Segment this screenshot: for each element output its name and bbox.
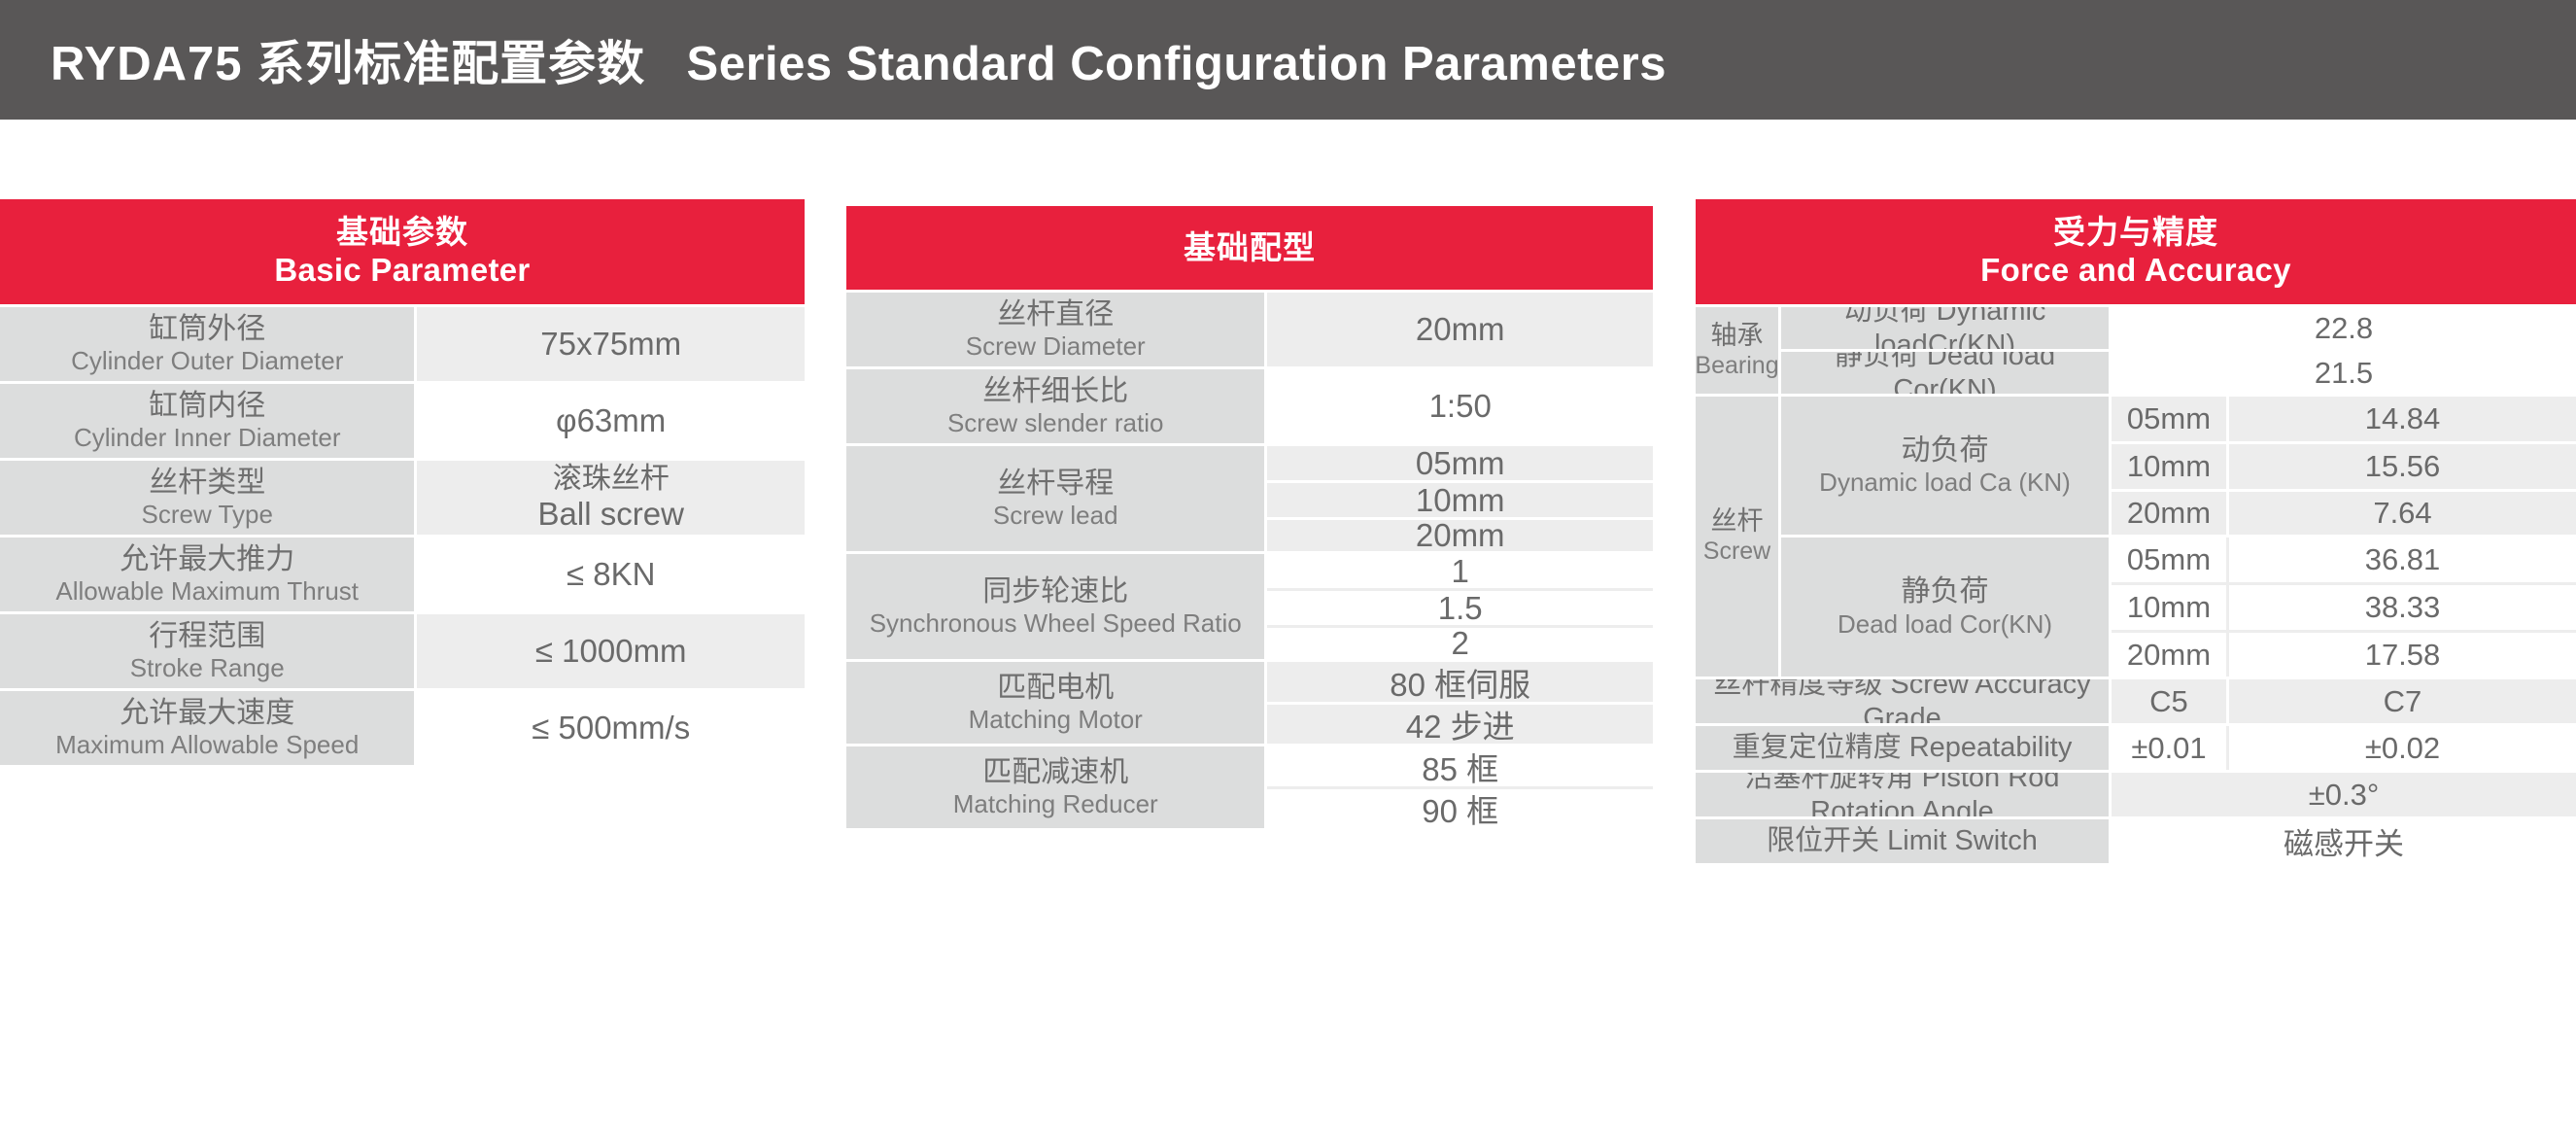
row-label-text: 丝杆精度等级 Screw Accuracy Grade: [1696, 679, 2109, 723]
table-row: 重复定位精度 Repeatability ±0.01 ±0.02: [1696, 726, 2576, 770]
row-value: 1.5: [1267, 591, 1653, 625]
row-value: φ63mm: [417, 384, 805, 458]
row-label-cn: 丝杆导程: [997, 467, 1114, 501]
lead-value: 05mm: [2112, 397, 2226, 441]
row-value: 80 框伺服: [1267, 662, 1653, 702]
block-label-en: Dynamic load Ca (KN): [1819, 468, 2071, 498]
row-label-cn: 匹配减速机: [982, 755, 1128, 789]
table-row: 10mm 38.33: [2112, 585, 2576, 630]
lead-value: 20mm: [2112, 492, 2226, 535]
row-label-en: Matching Motor: [969, 705, 1143, 735]
load-value: 17.58: [2229, 633, 2576, 677]
screw-group: 丝杆 Screw 动负荷 Dynamic load Ca (KN) 05mm: [1696, 397, 2576, 677]
block-values: 05mm 36.81 10mm 38.33 20mm: [2112, 538, 2576, 677]
row-label-en: Synchronous Wheel Speed Ratio: [870, 608, 1242, 639]
row-label-cn: 匹配电机: [997, 671, 1114, 705]
group-label-screw: 丝杆 Screw: [1696, 397, 1778, 677]
page-title-cn: RYDA75 系列标准配置参数: [51, 38, 645, 90]
row-label: 丝杆直径 Screw Diameter: [846, 293, 1264, 366]
table-row: 静负荷 Dead load Cor(KN) 21.5: [1781, 352, 2576, 394]
row-label: 限位开关 Limit Switch: [1696, 819, 2109, 863]
row-value: 75x75mm: [417, 307, 805, 381]
row-value: 21.5: [2112, 352, 2576, 394]
row-label-cn: 缸筒外径: [149, 312, 265, 346]
block-label: 静负荷 Dead load Cor(KN): [1781, 538, 2109, 677]
row-label: 同步轮速比 Synchronous Wheel Speed Ratio: [846, 554, 1264, 659]
row-value: 42 步进: [1267, 705, 1653, 744]
row-value-cn: 滚珠丝杆: [553, 462, 670, 496]
row-values: 1 1.5 2: [1267, 554, 1653, 659]
row-label-en: Maximum Allowable Speed: [55, 730, 359, 760]
table-row: 活塞杆旋转角 Piston Rod Rotation Angle ±0.3°: [1696, 773, 2576, 816]
row-value: 20mm: [1267, 520, 1653, 551]
table-row: 20mm 7.64: [2112, 492, 2576, 535]
row-label-en: Screw slender ratio: [947, 408, 1164, 438]
row-value-text: 75x75mm: [540, 326, 681, 364]
table-row: 允许最大速度 Maximum Allowable Speed ≤ 500mm/s: [0, 691, 805, 765]
header-en: Force and Accuracy: [1980, 252, 2291, 290]
row-label: 重复定位精度 Repeatability: [1696, 726, 2109, 770]
block-values: 05mm 14.84 10mm 15.56 20mm: [2112, 397, 2576, 535]
table-basic-parameter: 基础参数 Basic Parameter 缸筒外径 Cylinder Outer…: [0, 199, 805, 765]
table-row: 丝杆导程 Screw lead 05mm 10mm 20mm: [846, 446, 1653, 551]
row-label-text: 限位开关 Limit Switch: [1767, 824, 2038, 857]
screw-block-dynamic: 动负荷 Dynamic load Ca (KN) 05mm 14.84 10mm: [1781, 397, 2576, 535]
row-label-en: Screw Type: [142, 500, 273, 530]
row-label-text: 重复定位精度 Repeatability: [1733, 731, 2073, 764]
row-label: 丝杆细长比 Screw slender ratio: [846, 369, 1264, 443]
row-label-text: 静负荷 Dead load Cor(KN): [1781, 352, 2109, 394]
row-value-text: ≤ 1000mm: [535, 633, 687, 671]
spec-sheet-page: RYDA75 系列标准配置参数 Series Standard Configur…: [0, 0, 2576, 1145]
table-row: 05mm 36.81: [2112, 538, 2576, 582]
load-value: 14.84: [2229, 397, 2576, 441]
row-label-cn: 丝杆直径: [997, 297, 1114, 331]
row-value: 90 框: [1267, 789, 1653, 828]
header-en: Basic Parameter: [274, 252, 530, 290]
load-value: 7.64: [2229, 492, 2576, 535]
row-value-2: C7: [2229, 679, 2576, 723]
row-label: 动负荷 Dynamic loadCr(KN): [1781, 307, 2109, 349]
block-label: 动负荷 Dynamic load Ca (KN): [1781, 397, 2109, 535]
table-row: 丝杆直径 Screw Diameter 20mm: [846, 293, 1653, 366]
page-title-en: Series Standard Configuration Parameters: [687, 38, 1666, 90]
row-value: 85 框: [1267, 746, 1653, 786]
group-label-cn: 轴承: [1711, 321, 1764, 352]
block-label-cn: 静负荷: [1902, 574, 1989, 608]
screw-blocks: 动负荷 Dynamic load Ca (KN) 05mm 14.84 10mm: [1781, 397, 2576, 677]
row-value: 2: [1267, 628, 1653, 659]
row-label: 丝杆类型 Screw Type: [0, 461, 414, 535]
row-value-1: 磁感开关: [2112, 819, 2576, 863]
group-label-bearing: 轴承 Bearing: [1696, 307, 1778, 394]
row-value: ≤ 500mm/s: [417, 691, 805, 765]
row-label-en: Cylinder Inner Diameter: [74, 423, 341, 453]
page-title-bar: RYDA75 系列标准配置参数 Series Standard Configur…: [0, 0, 2576, 120]
table-row: 动负荷 Dynamic loadCr(KN) 22.8: [1781, 307, 2576, 349]
row-value: ≤ 1000mm: [417, 614, 805, 688]
table-basic-parameter-header: 基础参数 Basic Parameter: [0, 199, 805, 304]
table-row: 缸筒内径 Cylinder Inner Diameter φ63mm: [0, 384, 805, 458]
table-row: 丝杆细长比 Screw slender ratio 1:50: [846, 369, 1653, 443]
table-row: 限位开关 Limit Switch 磁感开关: [1696, 819, 2576, 863]
row-label-cn: 行程范围: [149, 619, 265, 653]
load-value: 36.81: [2229, 538, 2576, 582]
row-values: 80 框伺服 42 步进: [1267, 662, 1653, 744]
row-label: 行程范围 Stroke Range: [0, 614, 414, 688]
group-label-en: Bearing: [1696, 352, 1778, 381]
row-value-en: Ball screw: [538, 496, 684, 534]
lead-value: 10mm: [2112, 585, 2226, 630]
row-label: 允许最大速度 Maximum Allowable Speed: [0, 691, 414, 765]
row-label: 活塞杆旋转角 Piston Rod Rotation Angle: [1696, 773, 2109, 816]
row-value-text: φ63mm: [556, 402, 666, 440]
row-value: 20mm: [1267, 293, 1653, 366]
row-label: 缸筒内径 Cylinder Inner Diameter: [0, 384, 414, 458]
row-label: 静负荷 Dead load Cor(KN): [1781, 352, 2109, 394]
row-value: 22.8: [2112, 307, 2576, 349]
table-force-and-accuracy: 受力与精度 Force and Accuracy 轴承 Bearing 动负荷 …: [1696, 199, 2576, 863]
lead-value: 20mm: [2112, 633, 2226, 677]
row-label: 丝杆导程 Screw lead: [846, 446, 1264, 551]
bearing-group: 轴承 Bearing 动负荷 Dynamic loadCr(KN) 22.8 静…: [1696, 307, 2576, 394]
row-value-1: ±0.01: [2112, 726, 2226, 770]
row-label-text: 动负荷 Dynamic loadCr(KN): [1781, 307, 2109, 349]
page-title: RYDA75 系列标准配置参数 Series Standard Configur…: [0, 25, 1666, 94]
row-label-text: 活塞杆旋转角 Piston Rod Rotation Angle: [1696, 773, 2109, 816]
group-label-en: Screw: [1703, 538, 1770, 567]
table-row: 丝杆类型 Screw Type 滚珠丝杆 Ball screw: [0, 461, 805, 535]
row-label: 允许最大推力 Allowable Maximum Thrust: [0, 538, 414, 611]
group-label-cn: 丝杆: [1711, 506, 1764, 538]
row-label-cn: 丝杆类型: [149, 466, 265, 500]
row-value-text: ≤ 500mm/s: [532, 710, 690, 747]
row-value-2: ±0.02: [2229, 726, 2576, 770]
load-value: 15.56: [2229, 444, 2576, 489]
table-force-and-accuracy-header: 受力与精度 Force and Accuracy: [1696, 199, 2576, 304]
block-label-cn: 动负荷: [1902, 434, 1989, 468]
row-value: 1:50: [1267, 369, 1653, 443]
row-label-en: Screw lead: [993, 501, 1118, 531]
row-value-1: ±0.3°: [2112, 773, 2576, 816]
table-row: 匹配减速机 Matching Reducer 85 框 90 框: [846, 746, 1653, 828]
row-label-cn: 允许最大推力: [120, 542, 294, 576]
row-label: 丝杆精度等级 Screw Accuracy Grade: [1696, 679, 2109, 723]
row-label-cn: 丝杆细长比: [982, 374, 1128, 408]
screw-block-static: 静负荷 Dead load Cor(KN) 05mm 36.81 10mm: [1781, 538, 2576, 677]
table-row: 同步轮速比 Synchronous Wheel Speed Ratio 1 1.…: [846, 554, 1653, 659]
header-cn: 基础参数: [336, 214, 468, 252]
table-basic-configuration-header: 基础配型: [846, 206, 1653, 290]
row-label-cn: 允许最大速度: [120, 696, 294, 730]
row-value: 05mm: [1267, 446, 1653, 480]
row-values: 85 框 90 框: [1267, 746, 1653, 828]
row-label-en: Allowable Maximum Thrust: [55, 576, 359, 607]
row-label-en: Screw Diameter: [966, 331, 1146, 362]
table-row: 允许最大推力 Allowable Maximum Thrust ≤ 8KN: [0, 538, 805, 611]
table-row: 05mm 14.84: [2112, 397, 2576, 441]
row-values: 20mm: [1267, 293, 1653, 366]
lead-value: 05mm: [2112, 538, 2226, 582]
block-label-en: Dead load Cor(KN): [1838, 609, 2052, 640]
row-label-cn: 缸筒内径: [149, 389, 265, 423]
row-value: 10mm: [1267, 483, 1653, 517]
row-label-cn: 同步轮速比: [982, 574, 1128, 608]
table-row: 丝杆精度等级 Screw Accuracy Grade C5 C7: [1696, 679, 2576, 723]
bearing-rows: 动负荷 Dynamic loadCr(KN) 22.8 静负荷 Dead loa…: [1781, 307, 2576, 394]
table-row: 20mm 17.58: [2112, 633, 2576, 677]
lead-value: 10mm: [2112, 444, 2226, 489]
row-label: 匹配电机 Matching Motor: [846, 662, 1264, 744]
row-label-en: Stroke Range: [130, 653, 285, 683]
row-value-text: ≤ 8KN: [567, 556, 655, 594]
header-cn: 受力与精度: [2053, 214, 2218, 252]
page-title-spacer: [659, 38, 672, 90]
table-row: 匹配电机 Matching Motor 80 框伺服 42 步进: [846, 662, 1653, 744]
table-row: 10mm 15.56: [2112, 444, 2576, 489]
row-value: ≤ 8KN: [417, 538, 805, 611]
row-values: 1:50: [1267, 369, 1653, 443]
table-row: 缸筒外径 Cylinder Outer Diameter 75x75mm: [0, 307, 805, 381]
table-row: 行程范围 Stroke Range ≤ 1000mm: [0, 614, 805, 688]
load-value: 38.33: [2229, 585, 2576, 630]
row-label: 匹配减速机 Matching Reducer: [846, 746, 1264, 828]
row-value: 滚珠丝杆 Ball screw: [417, 461, 805, 535]
row-label: 缸筒外径 Cylinder Outer Diameter: [0, 307, 414, 381]
row-label-en: Matching Reducer: [953, 789, 1158, 819]
row-values: 05mm 10mm 20mm: [1267, 446, 1653, 551]
row-value: 1: [1267, 554, 1653, 588]
header-cn: 基础配型: [1184, 229, 1316, 267]
row-value-1: C5: [2112, 679, 2226, 723]
table-basic-configuration: 基础配型 丝杆直径 Screw Diameter 20mm 丝杆细长比 Scre…: [846, 206, 1653, 828]
row-label-en: Cylinder Outer Diameter: [71, 346, 343, 376]
